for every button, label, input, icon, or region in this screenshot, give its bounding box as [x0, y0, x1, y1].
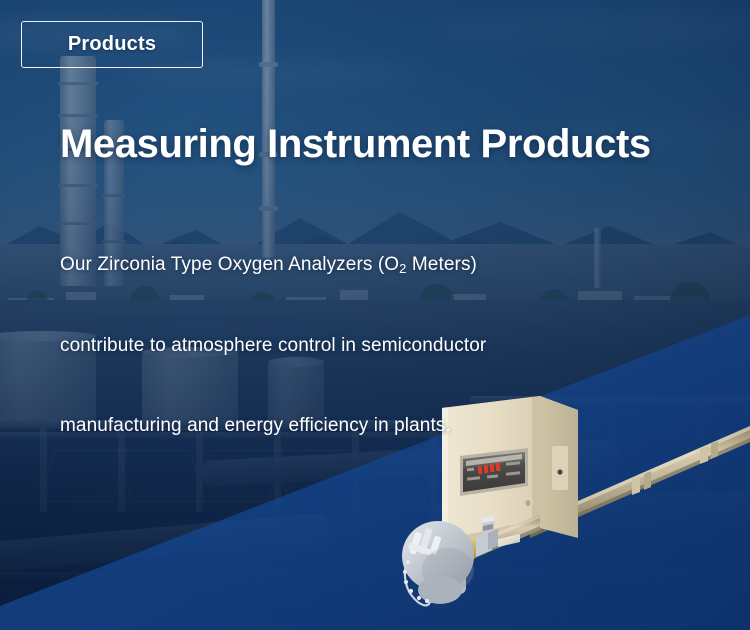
products-badge[interactable]: Products	[21, 21, 203, 68]
hero-banner: Products Measuring Instrument Products O…	[0, 0, 750, 630]
hero-content: Products Measuring Instrument Products O…	[0, 0, 750, 630]
page-title: Measuring Instrument Products	[60, 122, 651, 167]
page-subtitle: Our Zirconia Type Oxygen Analyzers (O2 M…	[60, 205, 486, 447]
subscript-two: 2	[399, 261, 406, 276]
subtitle-line2: contribute to atmosphere control in semi…	[60, 335, 486, 356]
subtitle-line3: manufacturing and energy efficiency in p…	[60, 415, 451, 436]
subtitle-line1-suffix: Meters)	[407, 254, 477, 275]
subtitle-line1-prefix: Our Zirconia Type Oxygen Analyzers (O	[60, 254, 399, 275]
products-badge-label: Products	[68, 33, 156, 56]
